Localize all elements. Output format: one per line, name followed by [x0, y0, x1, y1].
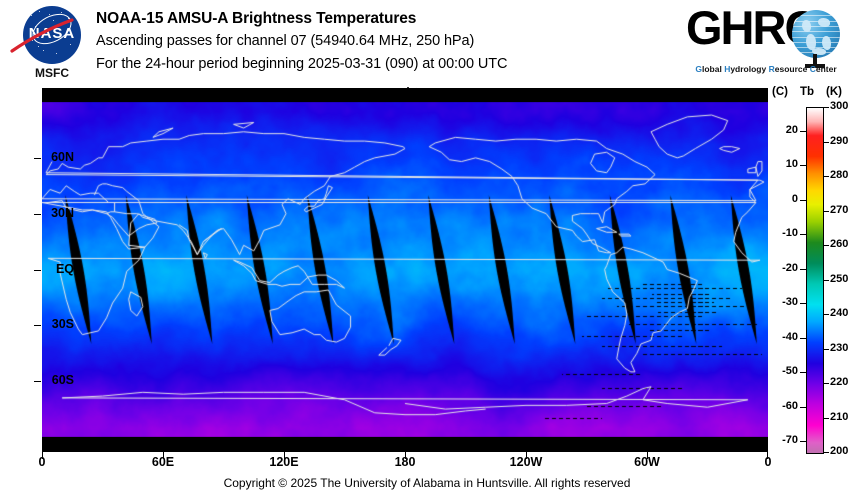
colorbar-celsius-label: -30 — [772, 296, 798, 308]
colorbar-kelvin-label: 230 — [830, 342, 854, 354]
latitude-label: 30N — [51, 206, 74, 220]
page-subtitle-period: For the 24-hour period beginning 2025-03… — [96, 53, 666, 76]
globe-latitude-line — [792, 26, 840, 27]
globe-latitude-line — [792, 42, 840, 43]
colorbar-celsius-label: -50 — [772, 365, 798, 377]
map-bottom-nodata-band — [42, 437, 768, 452]
colorbar-celsius-label: 10 — [772, 158, 798, 170]
ghrc-tagline: Global Hydrology Resource Center — [686, 64, 846, 74]
copyright-notice: Copyright © 2025 The University of Alaba… — [0, 476, 854, 490]
longitude-tick — [647, 452, 648, 459]
latitude-label: EQ — [56, 262, 74, 276]
colorbar-kelvin-tick — [823, 176, 829, 177]
colorbar-kelvin-label: 280 — [830, 169, 854, 181]
ghrc-tagline-part: G — [695, 64, 702, 74]
latitude-tick — [34, 325, 41, 326]
colorbar-celsius-header: (C) — [772, 86, 788, 98]
colorbar-celsius-label: -10 — [772, 227, 798, 239]
page-subtitle-channel: Ascending passes for channel 07 (54940.6… — [96, 30, 666, 53]
colorbar-kelvin-label: 250 — [830, 273, 854, 285]
colorbar-kelvin-label: 300 — [830, 100, 854, 112]
colorbar-celsius-label: 20 — [772, 124, 798, 136]
ghrc-tagline-part: esource — [775, 64, 810, 74]
latitude-label: 30S — [52, 317, 74, 331]
latitude-tick — [34, 214, 41, 215]
title-block: NOAA-15 AMSU-A Brightness Temperatures A… — [96, 8, 666, 76]
colorbar-celsius-label: -20 — [772, 262, 798, 274]
ghrc-logo: GHRC Global Hydrology Resource Center — [686, 6, 846, 78]
latitude-label: 60N — [51, 150, 74, 164]
colorbar-kelvin-tick — [823, 349, 829, 350]
globe-latitude-line — [792, 21, 840, 22]
globe-landmass — [818, 18, 830, 27]
longitude-tick — [42, 452, 43, 459]
page-header: NASA MSFC NOAA-15 AMSU-A Brightness Temp… — [0, 0, 854, 86]
colorbar-kelvin-tick — [823, 142, 829, 143]
colorbar-celsius-tick — [800, 441, 806, 442]
colorbar-gradient — [807, 108, 823, 453]
ghrc-tagline-part: ydrology — [730, 64, 768, 74]
colorbar-kelvin-tick — [823, 211, 829, 212]
longitude-label: 0 — [738, 455, 798, 469]
colorbar-kelvin-tick — [823, 418, 829, 419]
globe-latitude-line — [792, 31, 840, 32]
colorbar-celsius-label: -40 — [772, 331, 798, 343]
colorbar-kelvin-tick — [823, 314, 829, 315]
longitude-tick — [767, 452, 768, 459]
latitude-label: 60S — [52, 373, 74, 387]
colorbar-kelvin-label: 240 — [830, 307, 854, 319]
colorbar-kelvin-label: 210 — [830, 411, 854, 423]
colorbar-kelvin-header: (K) — [826, 86, 842, 98]
colorbar-celsius-tick — [800, 131, 806, 132]
left-arrow-marker-icon — [404, 86, 450, 102]
colorbar-celsius-tick — [800, 269, 806, 270]
colorbar-kelvin-label: 270 — [830, 204, 854, 216]
colorbar-kelvin-tick — [823, 452, 829, 453]
colorbar-celsius-tick — [800, 338, 806, 339]
colorbar-kelvin-label: 200 — [830, 445, 854, 457]
colorbar-celsius-label: -60 — [772, 400, 798, 412]
colorbar-celsius-tick — [800, 372, 806, 373]
map-data-layer — [42, 88, 768, 452]
longitude-tick — [526, 452, 527, 459]
latitude-tick — [34, 270, 41, 271]
colorbar-celsius-tick — [800, 200, 806, 201]
colorbar-kelvin-label: 290 — [830, 135, 854, 147]
latitude-tick — [34, 158, 41, 159]
nasa-star — [39, 11, 40, 12]
globe-latitude-line — [792, 37, 840, 38]
globe-landmass — [802, 20, 811, 32]
colorbar-celsius-tick — [800, 165, 806, 166]
colorbar-kelvin-tick — [823, 383, 829, 384]
colorbar-celsius-tick — [800, 303, 806, 304]
nasa-swoosh-icon — [10, 18, 74, 54]
latitude-tick — [34, 381, 41, 382]
longitude-tick — [163, 452, 164, 459]
colorbar-celsius-tick — [800, 407, 806, 408]
nasa-center-label: MSFC — [12, 66, 92, 80]
ghrc-tagline-part: lobal — [702, 64, 724, 74]
colorbar-celsius-label: -70 — [772, 434, 798, 446]
colorbar[interactable] — [806, 107, 824, 454]
nasa-star — [31, 15, 32, 16]
colorbar-celsius-tick — [800, 234, 806, 235]
colorbar-celsius-label: 0 — [772, 193, 798, 205]
globe-icon — [792, 10, 840, 58]
colorbar-kelvin-tick — [823, 107, 829, 108]
brightness-temperature-map[interactable] — [42, 88, 768, 452]
colorbar-kelvin-label: 220 — [830, 376, 854, 388]
colorbar-kelvin-tick — [823, 245, 829, 246]
longitude-tick — [284, 452, 285, 459]
nasa-logo: NASA MSFC — [12, 6, 86, 82]
globe-latitude-line — [792, 15, 840, 16]
colorbar-kelvin-label: 260 — [830, 238, 854, 250]
colorbar-kelvin-tick — [823, 280, 829, 281]
ghrc-tagline-part: enter — [816, 64, 837, 74]
colorbar-tb-header: Tb — [800, 86, 814, 98]
page-title: NOAA-15 AMSU-A Brightness Temperatures — [96, 8, 666, 30]
longitude-tick — [405, 452, 406, 459]
